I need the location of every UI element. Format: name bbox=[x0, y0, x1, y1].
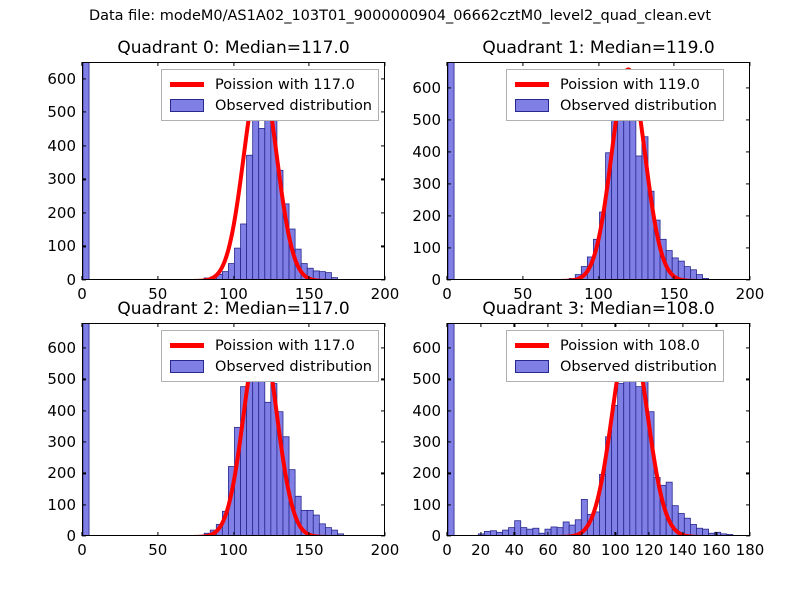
legend-entry-fit: Poission with 117.0 bbox=[167, 335, 372, 356]
histogram-bar bbox=[325, 273, 331, 280]
y-tick-mark bbox=[82, 145, 86, 146]
y-tick-mark bbox=[381, 347, 385, 348]
histogram-bar bbox=[496, 532, 502, 536]
y-tick-mark bbox=[381, 473, 385, 474]
legend-entry-observed: Observed distribution bbox=[167, 95, 372, 116]
x-tick-mark bbox=[446, 532, 447, 536]
y-tick-mark bbox=[746, 410, 750, 411]
y-tick-mark bbox=[746, 119, 750, 120]
x-tick-mark bbox=[233, 276, 234, 280]
subplot-title-quadrant-1: Quadrant 1: Median=119.0 bbox=[447, 38, 750, 58]
histogram-bar bbox=[319, 524, 325, 536]
legend-label-fit: Poission with 108.0 bbox=[560, 338, 700, 354]
y-tick-label: 500 bbox=[47, 370, 76, 388]
axes-quadrant-0: Poission with 117.0Observed distribution bbox=[82, 62, 385, 280]
histogram-bar bbox=[515, 521, 521, 536]
y-tick-label: 0 bbox=[431, 271, 441, 289]
x-tick-mark bbox=[384, 532, 385, 536]
legend-label-fit: Poission with 117.0 bbox=[215, 77, 355, 93]
x-tick-mark bbox=[522, 62, 523, 66]
x-tick-mark bbox=[157, 532, 158, 536]
y-tick-label: 500 bbox=[47, 103, 76, 121]
histogram-bar bbox=[690, 524, 696, 536]
y-tick-label: 600 bbox=[47, 70, 76, 88]
histogram-bar bbox=[241, 224, 247, 280]
x-tick-label: 120 bbox=[635, 541, 664, 559]
x-tick-mark bbox=[233, 532, 234, 536]
histogram-bar bbox=[235, 248, 241, 280]
y-tick-mark bbox=[746, 87, 750, 88]
x-tick-label: 200 bbox=[371, 541, 400, 559]
histogram-bar bbox=[618, 384, 624, 536]
y-tick-mark bbox=[82, 279, 86, 280]
y-tick-mark bbox=[82, 504, 86, 505]
x-tick-label: 0 bbox=[77, 541, 87, 559]
histogram-patch-icon bbox=[170, 360, 204, 373]
x-tick-mark bbox=[716, 323, 717, 327]
y-tick-mark bbox=[746, 347, 750, 348]
x-tick-mark bbox=[682, 532, 683, 536]
axes-quadrant-3: Poission with 108.0Observed distribution bbox=[447, 323, 750, 536]
axes-quadrant-1: Poission with 119.0Observed distribution bbox=[447, 62, 750, 280]
y-tick-mark bbox=[746, 473, 750, 474]
x-tick-mark bbox=[716, 532, 717, 536]
figure-canvas: Data file: modeM0/AS1A02_103T01_90000009… bbox=[0, 0, 800, 600]
histogram-patch-icon bbox=[515, 360, 549, 373]
y-tick-mark bbox=[447, 183, 451, 184]
fit-line-icon bbox=[170, 82, 204, 87]
histogram-bar bbox=[727, 534, 733, 536]
x-tick-mark bbox=[514, 323, 515, 327]
y-tick-label: 200 bbox=[47, 464, 76, 482]
y-tick-mark bbox=[381, 78, 385, 79]
histogram-bar bbox=[253, 362, 259, 536]
y-tick-mark bbox=[381, 246, 385, 247]
y-tick-mark bbox=[82, 246, 86, 247]
histogram-bar bbox=[198, 535, 204, 536]
y-tick-mark bbox=[82, 441, 86, 442]
x-tick-label: 60 bbox=[538, 541, 557, 559]
histogram-bar bbox=[222, 272, 228, 280]
legend-patch-swatch bbox=[512, 99, 552, 112]
histogram-patch-icon bbox=[170, 99, 204, 112]
legend-entry-fit: Poission with 108.0 bbox=[512, 335, 717, 356]
x-tick-mark bbox=[514, 532, 515, 536]
y-tick-mark bbox=[447, 119, 451, 120]
histogram-bar bbox=[331, 530, 337, 536]
y-tick-mark bbox=[381, 212, 385, 213]
y-tick-mark bbox=[746, 183, 750, 184]
legend-entry-observed: Observed distribution bbox=[512, 356, 717, 377]
x-tick-mark bbox=[522, 276, 523, 280]
legend-quadrant-1[interactable]: Poission with 119.0Observed distribution bbox=[506, 69, 724, 121]
y-tick-label: 600 bbox=[412, 79, 441, 97]
legend-line-swatch bbox=[512, 82, 552, 87]
y-tick-label: 0 bbox=[66, 527, 76, 545]
y-tick-mark bbox=[447, 247, 451, 248]
y-tick-mark bbox=[447, 379, 451, 380]
subplot-title-quadrant-3: Quadrant 3: Median=108.0 bbox=[447, 299, 750, 319]
y-tick-mark bbox=[82, 379, 86, 380]
x-tick-label: 180 bbox=[736, 541, 765, 559]
y-tick-mark bbox=[381, 179, 385, 180]
legend-line-swatch bbox=[167, 82, 207, 87]
x-tick-mark bbox=[384, 62, 385, 66]
histogram-bar bbox=[331, 278, 337, 280]
x-tick-mark bbox=[547, 323, 548, 327]
y-tick-mark bbox=[447, 347, 451, 348]
legend-entry-observed: Observed distribution bbox=[167, 356, 372, 377]
x-tick-mark bbox=[309, 532, 310, 536]
x-tick-mark bbox=[598, 62, 599, 66]
x-tick-mark bbox=[581, 323, 582, 327]
x-tick-label: 150 bbox=[295, 541, 324, 559]
x-tick-mark bbox=[81, 276, 82, 280]
x-tick-mark bbox=[233, 323, 234, 327]
y-tick-mark bbox=[381, 112, 385, 113]
histogram-bar bbox=[313, 515, 319, 536]
y-tick-mark bbox=[82, 78, 86, 79]
x-tick-mark bbox=[81, 532, 82, 536]
x-tick-label: 100 bbox=[219, 541, 248, 559]
legend-label-observed: Observed distribution bbox=[560, 98, 717, 114]
y-tick-mark bbox=[447, 473, 451, 474]
legend-quadrant-0[interactable]: Poission with 117.0Observed distribution bbox=[161, 69, 379, 121]
x-tick-label: 100 bbox=[601, 541, 630, 559]
legend-entry-fit: Poission with 119.0 bbox=[512, 74, 717, 95]
legend-label-fit: Poission with 117.0 bbox=[215, 338, 355, 354]
y-tick-mark bbox=[447, 279, 451, 280]
y-tick-mark bbox=[82, 112, 86, 113]
x-tick-mark bbox=[384, 323, 385, 327]
figure-suptitle: Data file: modeM0/AS1A02_103T01_90000009… bbox=[0, 8, 800, 24]
y-tick-mark bbox=[381, 410, 385, 411]
y-tick-mark bbox=[82, 179, 86, 180]
histogram-bar bbox=[503, 530, 509, 536]
fit-line-icon bbox=[515, 343, 549, 348]
y-tick-mark bbox=[447, 215, 451, 216]
x-tick-mark bbox=[749, 323, 750, 327]
histogram-bar bbox=[636, 156, 642, 280]
x-tick-mark bbox=[749, 276, 750, 280]
histogram-bar bbox=[338, 534, 344, 536]
x-tick-mark bbox=[598, 276, 599, 280]
x-tick-mark bbox=[157, 323, 158, 327]
y-tick-mark bbox=[82, 347, 86, 348]
subplot-title-quadrant-0: Quadrant 0: Median=117.0 bbox=[82, 38, 385, 58]
histogram-patch-icon bbox=[515, 99, 549, 112]
x-tick-mark bbox=[547, 532, 548, 536]
fit-line-icon bbox=[170, 343, 204, 348]
y-tick-label: 100 bbox=[47, 496, 76, 514]
legend-label-observed: Observed distribution bbox=[215, 98, 372, 114]
y-tick-mark bbox=[746, 441, 750, 442]
x-tick-mark bbox=[384, 276, 385, 280]
histogram-bar bbox=[265, 402, 271, 536]
histogram-bar bbox=[563, 522, 569, 536]
legend-line-swatch bbox=[167, 343, 207, 348]
subplot-title-quadrant-2: Quadrant 2: Median=117.0 bbox=[82, 299, 385, 319]
y-tick-mark bbox=[447, 151, 451, 152]
y-tick-mark bbox=[381, 145, 385, 146]
histogram-bar bbox=[703, 278, 709, 280]
y-tick-label: 0 bbox=[66, 271, 76, 289]
y-tick-mark bbox=[746, 504, 750, 505]
x-tick-mark bbox=[81, 323, 82, 327]
y-tick-mark bbox=[82, 410, 86, 411]
histogram-bar bbox=[539, 533, 545, 536]
x-tick-mark bbox=[674, 62, 675, 66]
x-tick-label: 0 bbox=[442, 541, 452, 559]
histogram-bar bbox=[557, 528, 563, 536]
x-tick-mark bbox=[309, 323, 310, 327]
y-tick-label: 300 bbox=[412, 433, 441, 451]
x-tick-mark bbox=[480, 323, 481, 327]
histogram-bar bbox=[247, 155, 253, 280]
x-tick-mark bbox=[446, 323, 447, 327]
y-tick-label: 100 bbox=[47, 237, 76, 255]
y-tick-mark bbox=[746, 215, 750, 216]
x-tick-mark bbox=[81, 62, 82, 66]
x-tick-mark bbox=[682, 323, 683, 327]
y-tick-label: 500 bbox=[412, 111, 441, 129]
y-tick-label: 600 bbox=[412, 339, 441, 357]
y-tick-mark bbox=[82, 473, 86, 474]
y-tick-mark bbox=[746, 247, 750, 248]
histogram-bar bbox=[733, 535, 739, 536]
y-tick-label: 300 bbox=[47, 433, 76, 451]
y-tick-label: 600 bbox=[47, 339, 76, 357]
histogram-bar bbox=[259, 128, 265, 280]
fit-line-icon bbox=[515, 82, 549, 87]
legend-patch-swatch bbox=[512, 360, 552, 373]
legend-patch-swatch bbox=[167, 360, 207, 373]
legend-entry-fit: Poission with 117.0 bbox=[167, 74, 372, 95]
x-tick-label: 40 bbox=[505, 541, 524, 559]
histogram-bar bbox=[684, 518, 690, 536]
histogram-bar bbox=[709, 533, 715, 536]
histogram-bar bbox=[696, 528, 702, 536]
x-tick-mark bbox=[309, 62, 310, 66]
x-tick-mark bbox=[674, 276, 675, 280]
histogram-bar bbox=[721, 534, 727, 536]
legend-label-fit: Poission with 119.0 bbox=[560, 77, 700, 93]
y-tick-mark bbox=[381, 379, 385, 380]
histogram-bar bbox=[533, 528, 539, 536]
x-tick-mark bbox=[480, 532, 481, 536]
subplot-quadrant-2: Quadrant 2: Median=117.0 Poission with 1… bbox=[82, 323, 385, 536]
x-tick-mark bbox=[648, 532, 649, 536]
subplot-quadrant-1: Quadrant 1: Median=119.0 Poission with 1… bbox=[447, 62, 750, 280]
histogram-bar bbox=[696, 275, 702, 280]
y-tick-label: 400 bbox=[412, 143, 441, 161]
legend-quadrant-2[interactable]: Poission with 117.0Observed distribution bbox=[161, 330, 379, 382]
x-tick-mark bbox=[581, 532, 582, 536]
legend-quadrant-3[interactable]: Poission with 108.0Observed distribution bbox=[506, 330, 724, 382]
x-tick-mark bbox=[233, 62, 234, 66]
y-tick-mark bbox=[447, 410, 451, 411]
x-tick-label: 140 bbox=[668, 541, 697, 559]
legend-label-observed: Observed distribution bbox=[560, 359, 717, 375]
histogram-bar bbox=[527, 529, 533, 536]
x-tick-mark bbox=[749, 532, 750, 536]
y-tick-mark bbox=[381, 504, 385, 505]
subplot-quadrant-0: Quadrant 0: Median=117.0 Poission with 1… bbox=[82, 62, 385, 280]
x-tick-label: 80 bbox=[572, 541, 591, 559]
y-tick-label: 100 bbox=[412, 496, 441, 514]
x-tick-mark bbox=[648, 323, 649, 327]
y-tick-mark bbox=[447, 535, 451, 536]
y-tick-mark bbox=[746, 151, 750, 152]
y-tick-label: 200 bbox=[412, 207, 441, 225]
y-tick-mark bbox=[746, 379, 750, 380]
subplot-quadrant-3: Quadrant 3: Median=108.0 Poission with 1… bbox=[447, 323, 750, 536]
histogram-bar bbox=[83, 63, 89, 280]
legend-patch-swatch bbox=[167, 99, 207, 112]
x-tick-mark bbox=[749, 62, 750, 66]
axes-quadrant-2: Poission with 117.0Observed distribution bbox=[82, 323, 385, 536]
y-tick-label: 300 bbox=[47, 170, 76, 188]
y-tick-label: 500 bbox=[412, 370, 441, 388]
histogram-bar bbox=[521, 528, 527, 536]
x-tick-label: 20 bbox=[471, 541, 490, 559]
x-tick-mark bbox=[615, 323, 616, 327]
y-tick-mark bbox=[447, 504, 451, 505]
y-tick-label: 0 bbox=[431, 527, 441, 545]
histogram-bar bbox=[684, 267, 690, 280]
histogram-bar bbox=[490, 531, 496, 536]
histogram-bar bbox=[690, 270, 696, 280]
x-tick-mark bbox=[446, 62, 447, 66]
legend-label-observed: Observed distribution bbox=[215, 359, 372, 375]
legend-entry-observed: Observed distribution bbox=[512, 95, 717, 116]
x-tick-mark bbox=[157, 62, 158, 66]
y-tick-label: 200 bbox=[47, 204, 76, 222]
y-tick-label: 100 bbox=[412, 239, 441, 257]
histogram-bar bbox=[484, 531, 490, 536]
y-tick-label: 200 bbox=[412, 464, 441, 482]
x-tick-label: 50 bbox=[148, 541, 167, 559]
x-tick-label: 160 bbox=[702, 541, 731, 559]
y-tick-mark bbox=[447, 441, 451, 442]
y-tick-label: 400 bbox=[47, 137, 76, 155]
y-tick-mark bbox=[82, 212, 86, 213]
y-tick-label: 300 bbox=[412, 175, 441, 193]
x-tick-mark bbox=[309, 276, 310, 280]
y-tick-label: 400 bbox=[47, 402, 76, 420]
y-tick-label: 400 bbox=[412, 402, 441, 420]
histogram-bar bbox=[325, 528, 331, 536]
y-tick-mark bbox=[381, 441, 385, 442]
x-tick-mark bbox=[446, 276, 447, 280]
histogram-bar bbox=[551, 527, 557, 536]
legend-line-swatch bbox=[512, 343, 552, 348]
histogram-bar bbox=[253, 113, 259, 280]
y-tick-mark bbox=[82, 535, 86, 536]
x-tick-mark bbox=[615, 532, 616, 536]
histogram-bar bbox=[636, 387, 642, 536]
x-tick-mark bbox=[157, 276, 158, 280]
histogram-bar bbox=[624, 374, 630, 536]
y-tick-mark bbox=[447, 87, 451, 88]
